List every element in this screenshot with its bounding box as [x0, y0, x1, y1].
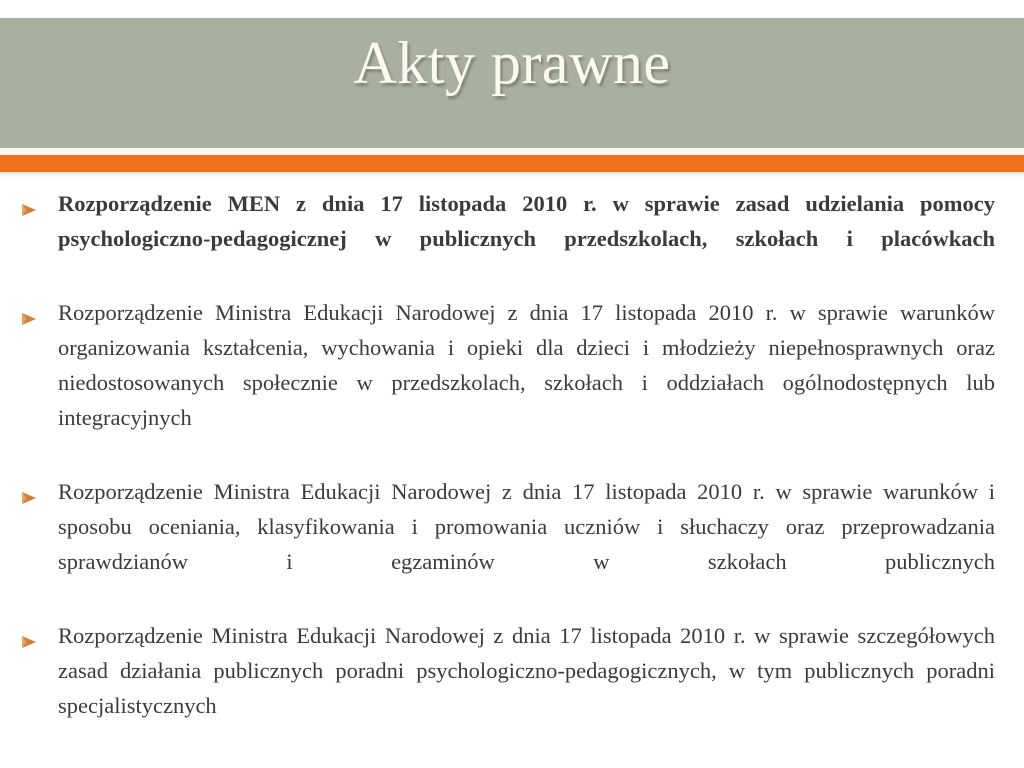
list-item-text: Rozporządzenie MEN z dnia 17 listopada 2…: [58, 186, 995, 291]
title-divider-rule: [0, 155, 1024, 172]
arrowhead-bullet-icon: [21, 481, 37, 497]
list-item: Rozporządzenie MEN z dnia 17 listopada 2…: [0, 186, 1024, 291]
slide-title: Akty prawne: [0, 30, 1024, 96]
list-item-text: Rozporządzenie Ministra Edukacji Narodow…: [58, 295, 995, 470]
arrowhead-bullet-icon: [21, 625, 37, 641]
list-item-text: Rozporządzenie Ministra Edukacji Narodow…: [58, 474, 995, 614]
legal-acts-list: Rozporządzenie MEN z dnia 17 listopada 2…: [0, 186, 1024, 758]
list-item: Rozporządzenie Ministra Edukacji Narodow…: [0, 618, 1024, 758]
arrowhead-bullet-icon: [21, 302, 37, 318]
list-item-text: Rozporządzenie Ministra Edukacji Narodow…: [58, 618, 995, 758]
arrowhead-bullet-icon: [21, 193, 37, 209]
list-item: Rozporządzenie Ministra Edukacji Narodow…: [0, 474, 1024, 614]
presentation-slide: Akty prawne Rozporządzenie MEN z dnia 17…: [0, 0, 1024, 768]
title-divider-shadow: [0, 172, 1024, 178]
slide-body: Rozporządzenie MEN z dnia 17 listopada 2…: [0, 186, 1024, 746]
title-divider-gap: [0, 148, 1024, 155]
list-item: Rozporządzenie Ministra Edukacji Narodow…: [0, 295, 1024, 470]
